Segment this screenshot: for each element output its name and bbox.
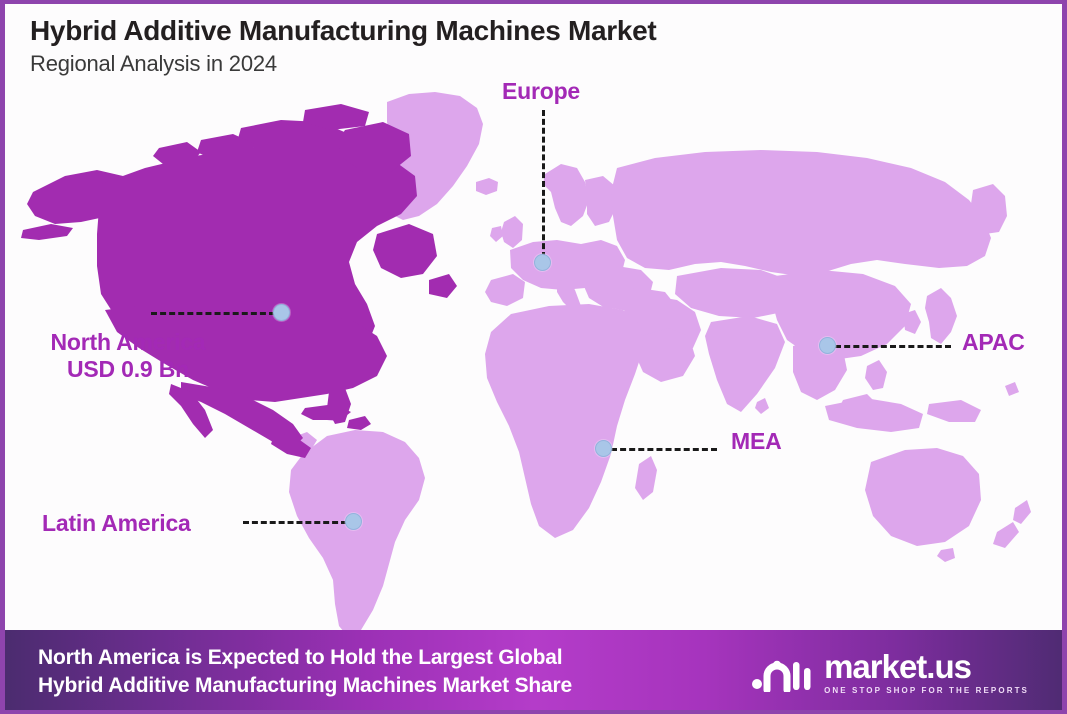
marker-apac [819, 337, 836, 354]
marker-north-america [273, 304, 290, 321]
region-new-zealand [1013, 500, 1031, 524]
region-value-north-america: USD 0.9 Bn [23, 356, 233, 383]
marker-mea [595, 440, 612, 457]
region-pacific-islands [1005, 382, 1019, 396]
region-label-latin-america-text: Latin America [42, 510, 191, 536]
map-regions-highlight [21, 104, 457, 458]
region-ireland [490, 226, 503, 242]
banner-caption-line1: North America is Expected to Hold the La… [38, 646, 562, 669]
connector-north-america [151, 312, 275, 315]
connector-europe [542, 110, 545, 258]
region-australia [865, 448, 981, 546]
marker-europe [534, 254, 551, 271]
region-label-apac: APAC [962, 329, 1025, 356]
region-korea [903, 310, 921, 334]
region-label-apac-text: APAC [962, 329, 1025, 355]
region-new-zealand-south [993, 522, 1019, 548]
market-us-logo-icon [751, 652, 813, 692]
bottom-banner: North America is Expected to Hold the La… [0, 630, 1067, 714]
infographic-root: Hybrid Additive Manufacturing Machines M… [0, 0, 1067, 714]
brand-tagline: ONE STOP SHOP FOR THE REPORTS [824, 687, 1029, 695]
region-label-europe: Europe [502, 78, 580, 105]
region-british-isles [501, 216, 523, 248]
banner-caption-line2: Hybrid Additive Manufacturing Machines M… [38, 672, 572, 700]
page-title: Hybrid Additive Manufacturing Machines M… [30, 14, 656, 47]
region-label-north-america: North America USD 0.9 Bn [23, 329, 233, 383]
connector-apac [835, 345, 951, 348]
connector-latin-america [243, 521, 347, 524]
region-label-north-america-text: North America [50, 329, 205, 355]
region-new-guinea [927, 400, 981, 422]
region-africa [485, 304, 643, 538]
page-subtitle: Regional Analysis in 2024 [30, 51, 656, 77]
region-label-europe-text: Europe [502, 78, 580, 104]
region-newfoundland [429, 274, 457, 298]
region-philippines [865, 360, 887, 390]
region-aleutians [21, 224, 73, 240]
brand-logo[interactable]: market.us ONE STOP SHOP FOR THE REPORTS [751, 650, 1033, 695]
region-scandinavia [543, 164, 589, 226]
region-iberia [485, 274, 525, 306]
banner-caption: North America is Expected to Hold the La… [38, 644, 572, 701]
region-labrador [373, 224, 437, 278]
region-madagascar [635, 456, 657, 500]
marker-latin-america [345, 513, 362, 530]
region-label-mea: MEA [731, 428, 782, 455]
header: Hybrid Additive Manufacturing Machines M… [30, 14, 656, 77]
region-south-america [289, 430, 425, 638]
brand-logo-text: market.us ONE STOP SHOP FOR THE REPORTS [824, 650, 1029, 695]
region-arabia [635, 328, 695, 382]
region-sri-lanka [755, 398, 769, 414]
region-label-latin-america: Latin America [42, 510, 191, 537]
connector-mea [611, 448, 717, 451]
region-russia [611, 150, 991, 276]
region-label-mea-text: MEA [731, 428, 782, 454]
region-tasmania [937, 548, 955, 562]
region-hispaniola [347, 416, 371, 430]
region-india [705, 316, 785, 412]
region-japan [925, 288, 957, 344]
brand-name: market.us [824, 650, 1029, 683]
region-iceland [476, 178, 498, 195]
